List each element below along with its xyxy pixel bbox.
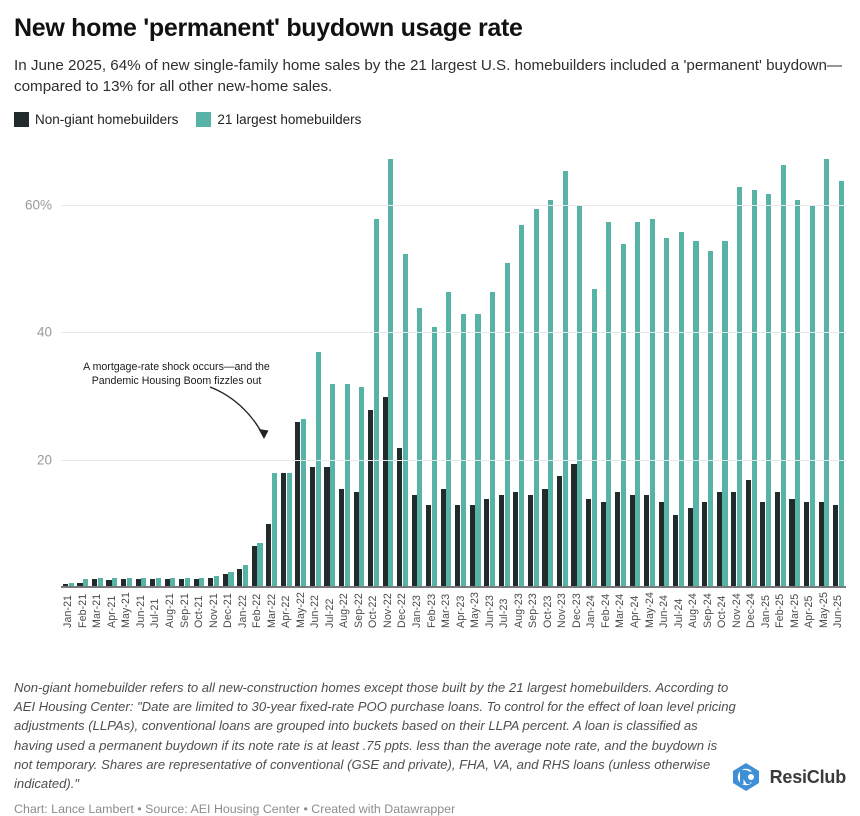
x-axis-label-text: Aug-22: [338, 592, 350, 628]
x-axis-label-text: Jun-22: [309, 592, 321, 628]
bar[interactable]: [499, 495, 504, 587]
bar[interactable]: [426, 505, 431, 588]
bar[interactable]: [804, 502, 809, 588]
bar[interactable]: [760, 502, 765, 588]
x-axis-label: Nov-22: [381, 592, 396, 628]
x-axis-label-text: Mar-24: [614, 592, 626, 628]
plot-region: 204060%: [61, 143, 846, 588]
bar-group[interactable]: [308, 143, 323, 588]
bar[interactable]: [737, 187, 742, 588]
bar[interactable]: [775, 492, 780, 587]
x-axis-label: Apr-22: [279, 592, 294, 628]
bar[interactable]: [819, 502, 824, 588]
x-axis-label: Aug-23: [511, 592, 526, 628]
bar-group[interactable]: [715, 143, 730, 588]
bar-group[interactable]: [61, 143, 76, 588]
x-axis-label-text: Oct-24: [716, 592, 728, 628]
x-axis-label-text: Nov-21: [208, 592, 220, 628]
bar-group[interactable]: [497, 143, 512, 588]
x-axis-label-text: Oct-21: [193, 592, 205, 628]
bar[interactable]: [354, 492, 359, 587]
x-axis-label-text: Mar-22: [266, 592, 278, 628]
legend-swatch-icon: [14, 112, 29, 127]
y-gridline: 60%: [61, 205, 846, 206]
bar[interactable]: [388, 159, 393, 588]
bar[interactable]: [513, 492, 518, 587]
bar[interactable]: [542, 489, 547, 588]
bar[interactable]: [650, 219, 655, 588]
credit-line: Chart: Lance Lambert • Source: AEI Housi…: [14, 802, 846, 816]
x-axis-label: Oct-22: [366, 592, 381, 628]
x-axis-label-text: Feb-23: [426, 592, 438, 628]
bar[interactable]: [266, 524, 271, 588]
x-axis-label: Jul-23: [497, 592, 512, 628]
x-axis-label-text: Oct-23: [542, 592, 554, 628]
legend-swatch-icon: [196, 112, 211, 127]
bar[interactable]: [606, 222, 611, 588]
bar-group[interactable]: [555, 143, 570, 588]
x-axis-label: Aug-22: [337, 592, 352, 628]
bar-group[interactable]: [366, 143, 381, 588]
x-axis-label-text: Sep-21: [179, 592, 191, 628]
bar[interactable]: [455, 505, 460, 588]
x-axis-label: Oct-23: [541, 592, 556, 628]
x-axis-label-text: Sep-24: [702, 592, 714, 628]
bar[interactable]: [702, 502, 707, 588]
x-axis-label: May-21: [119, 592, 134, 628]
bar-group[interactable]: [729, 143, 744, 588]
bar[interactable]: [359, 387, 364, 587]
bar-group[interactable]: [831, 143, 846, 588]
resiclub-mark-icon: [729, 762, 763, 792]
x-axis-label: Jan-22: [235, 592, 250, 628]
x-axis-label-text: May-21: [120, 592, 132, 628]
bar[interactable]: [446, 292, 451, 588]
bar-group[interactable]: [468, 143, 483, 588]
bar[interactable]: [679, 232, 684, 588]
bar[interactable]: [383, 397, 388, 588]
x-axis-label-text: Nov-23: [556, 592, 568, 628]
x-axis-label: May-24: [642, 592, 657, 628]
bar-group[interactable]: [482, 143, 497, 588]
x-axis-label: Dec-24: [744, 592, 759, 628]
bar-group[interactable]: [177, 143, 192, 588]
x-axis-label: Apr-24: [628, 592, 643, 628]
bar[interactable]: [397, 448, 402, 588]
bar-group[interactable]: [686, 143, 701, 588]
bar-group[interactable]: [192, 143, 207, 588]
bar[interactable]: [752, 190, 757, 587]
bar[interactable]: [243, 565, 248, 587]
x-axis-label: May-22: [294, 592, 309, 628]
x-axis-label-text: Jul-24: [673, 592, 685, 628]
bar[interactable]: [621, 244, 626, 587]
bar[interactable]: [490, 292, 495, 588]
bar-group[interactable]: [439, 143, 454, 588]
bar[interactable]: [592, 289, 597, 588]
bar-group[interactable]: [628, 143, 643, 588]
bar-group[interactable]: [206, 143, 221, 588]
bar[interactable]: [766, 194, 771, 588]
x-axis-label: Jan-21: [61, 592, 76, 628]
x-axis-label: Mar-25: [788, 592, 803, 628]
bar-group[interactable]: [657, 143, 672, 588]
bar[interactable]: [839, 181, 844, 588]
x-axis-label: Mar-24: [613, 592, 628, 628]
bar-group[interactable]: [744, 143, 759, 588]
bar-group[interactable]: [323, 143, 338, 588]
bar[interactable]: [475, 314, 480, 587]
bar-group[interactable]: [119, 143, 134, 588]
bar[interactable]: [659, 502, 664, 588]
brand-logo: ResiClub: [729, 762, 846, 792]
bar[interactable]: [586, 499, 591, 588]
bar[interactable]: [330, 384, 335, 587]
x-axis-label-text: Apr-24: [629, 592, 641, 628]
x-axis-label-text: Jan-21: [62, 592, 74, 628]
x-axis-label: Nov-23: [555, 592, 570, 628]
x-axis-label-text: Apr-25: [803, 592, 815, 628]
legend-item[interactable]: 21 largest homebuilders: [196, 112, 361, 127]
bar[interactable]: [664, 238, 669, 588]
bar-group[interactable]: [570, 143, 585, 588]
bar-group[interactable]: [642, 143, 657, 588]
bar[interactable]: [577, 206, 582, 587]
x-axis-label-text: May-23: [469, 592, 481, 628]
x-axis-label: Jun-21: [134, 592, 149, 628]
x-axis-label: Jun-23: [482, 592, 497, 628]
x-axis-label: Apr-21: [105, 592, 120, 628]
bar-group[interactable]: [700, 143, 715, 588]
x-axis-label: Jan-25: [759, 592, 774, 628]
bar[interactable]: [534, 209, 539, 587]
bar[interactable]: [287, 473, 292, 587]
x-axis-label-text: Jul-23: [498, 592, 510, 628]
x-axis-label-text: Jun-24: [658, 592, 670, 628]
bar[interactable]: [708, 251, 713, 588]
bar[interactable]: [484, 499, 489, 588]
bar[interactable]: [722, 241, 727, 587]
bar-group[interactable]: [424, 143, 439, 588]
chart-area: 204060% Jan-21Feb-21Mar-21Apr-21May-21Ju…: [14, 143, 846, 651]
x-axis-label-text: Jul-22: [324, 592, 336, 628]
x-axis-label: Aug-21: [163, 592, 178, 628]
x-axis-label: Sep-21: [177, 592, 192, 628]
x-axis-label-text: Feb-24: [600, 592, 612, 628]
x-axis-label-text: May-22: [295, 592, 307, 628]
x-axis-label-text: Nov-24: [731, 592, 743, 628]
x-axis-label: Sep-24: [700, 592, 715, 628]
bar[interactable]: [824, 159, 829, 588]
x-axis-label-text: May-25: [818, 592, 830, 628]
legend-item[interactable]: Non-giant homebuilders: [14, 112, 178, 127]
bar[interactable]: [731, 492, 736, 587]
bar-group[interactable]: [134, 143, 149, 588]
bar-group[interactable]: [148, 143, 163, 588]
x-axis-label: Nov-21: [206, 592, 221, 628]
x-axis-label: Jun-24: [657, 592, 672, 628]
x-axis-label: Mar-22: [264, 592, 279, 628]
bar-group[interactable]: [511, 143, 526, 588]
x-axis-label: Feb-24: [599, 592, 614, 628]
bar[interactable]: [417, 308, 422, 588]
legend-item-label: Non-giant homebuilders: [35, 112, 178, 127]
bar[interactable]: [272, 473, 277, 587]
page-title: New home 'permanent' buydown usage rate: [14, 14, 846, 44]
bar[interactable]: [470, 505, 475, 588]
x-axis-label-text: Dec-22: [396, 592, 408, 628]
x-axis-label-text: Dec-21: [222, 592, 234, 628]
bar-group[interactable]: [671, 143, 686, 588]
bar-group[interactable]: [453, 143, 468, 588]
bar[interactable]: [635, 222, 640, 588]
bar-group[interactable]: [279, 143, 294, 588]
bar[interactable]: [237, 569, 242, 588]
x-axis-label-text: Mar-21: [91, 592, 103, 628]
x-axis-label-text: May-24: [644, 592, 656, 628]
x-axis-label-text: Apr-21: [106, 592, 118, 628]
bar-group[interactable]: [105, 143, 120, 588]
x-axis-label-text: Sep-23: [527, 592, 539, 628]
x-axis-label: Oct-21: [192, 592, 207, 628]
x-axis-label: Mar-21: [90, 592, 105, 628]
x-axis-label: Mar-23: [439, 592, 454, 628]
x-axis-label-text: Apr-22: [280, 592, 292, 628]
bar[interactable]: [505, 263, 510, 587]
bar[interactable]: [528, 495, 533, 587]
bar[interactable]: [324, 467, 329, 588]
bar-group[interactable]: [381, 143, 396, 588]
x-axis-label-text: Jun-23: [484, 592, 496, 628]
bar[interactable]: [563, 171, 568, 587]
bar-group[interactable]: [395, 143, 410, 588]
bar[interactable]: [571, 464, 576, 588]
bar-group[interactable]: [541, 143, 556, 588]
x-axis-label: Jul-21: [148, 592, 163, 628]
x-axis-label-text: Feb-25: [774, 592, 786, 628]
brand-name: ResiClub: [770, 767, 846, 788]
x-axis-label-text: Jan-24: [585, 592, 597, 628]
x-axis-label: Jul-24: [671, 592, 686, 628]
bar[interactable]: [615, 492, 620, 587]
bar[interactable]: [717, 492, 722, 587]
x-axis-label-text: Feb-21: [77, 592, 89, 628]
bar[interactable]: [345, 384, 350, 587]
bar[interactable]: [630, 495, 635, 587]
bar[interactable]: [252, 546, 257, 587]
bar[interactable]: [746, 480, 751, 588]
x-axis-label-text: Jan-22: [237, 592, 249, 628]
x-axis-label: Apr-23: [453, 592, 468, 628]
bar-group[interactable]: [788, 143, 803, 588]
x-axis-label: May-23: [468, 592, 483, 628]
bar[interactable]: [461, 314, 466, 587]
chart-page: New home 'permanent' buydown usage rate …: [0, 14, 860, 812]
bar[interactable]: [301, 419, 306, 587]
bar-group[interactable]: [235, 143, 250, 588]
bar-group[interactable]: [76, 143, 91, 588]
x-axis-label: Jun-25: [831, 592, 846, 628]
y-axis-tick-label: 40: [37, 325, 52, 340]
x-axis-label: Oct-24: [715, 592, 730, 628]
bar[interactable]: [281, 473, 286, 587]
y-axis-tick-label: 20: [37, 452, 52, 467]
bar-group[interactable]: [410, 143, 425, 588]
x-axis-label-text: Dec-23: [571, 592, 583, 628]
bar-series-container: [61, 143, 846, 588]
chart-footer: Non-giant homebuilder refers to all new-…: [14, 678, 846, 816]
bar-group[interactable]: [526, 143, 541, 588]
x-axis-label: Dec-22: [395, 592, 410, 628]
x-axis-baseline: [61, 586, 846, 587]
legend-item-label: 21 largest homebuilders: [217, 112, 361, 127]
bar-group[interactable]: [264, 143, 279, 588]
bar[interactable]: [441, 489, 446, 588]
x-axis-label-text: Dec-24: [745, 592, 757, 628]
y-gridline: 40: [61, 332, 846, 333]
bar[interactable]: [601, 502, 606, 588]
x-axis-label-text: Aug-23: [513, 592, 525, 628]
x-axis-label: Apr-25: [802, 592, 817, 628]
x-axis-label: Feb-23: [424, 592, 439, 628]
bar[interactable]: [310, 467, 315, 588]
x-axis-label-text: Oct-22: [367, 592, 379, 628]
x-axis-label: Sep-22: [352, 592, 367, 628]
bar[interactable]: [789, 499, 794, 588]
bar-group[interactable]: [294, 143, 309, 588]
x-axis-label-text: Feb-22: [251, 592, 263, 628]
x-axis-label: Feb-22: [250, 592, 265, 628]
bar[interactable]: [673, 515, 678, 588]
bar-group[interactable]: [613, 143, 628, 588]
x-axis-label-text: Aug-24: [687, 592, 699, 628]
bar[interactable]: [374, 219, 379, 588]
x-axis-label: Jun-22: [308, 592, 323, 628]
page-subtitle: In June 2025, 64% of new single-family h…: [14, 55, 844, 98]
bar[interactable]: [316, 352, 321, 587]
bar[interactable]: [257, 543, 262, 588]
footnote-text: Non-giant homebuilder refers to all new-…: [14, 678, 736, 793]
bar[interactable]: [833, 505, 838, 588]
bar-group[interactable]: [584, 143, 599, 588]
x-axis-labels: Jan-21Feb-21Mar-21Apr-21May-21Jun-21Jul-…: [61, 592, 846, 628]
x-axis-label: May-25: [817, 592, 832, 628]
x-axis-label: Jul-22: [323, 592, 338, 628]
bar-group[interactable]: [352, 143, 367, 588]
x-axis-label-text: Apr-23: [455, 592, 467, 628]
bar-group[interactable]: [802, 143, 817, 588]
bar[interactable]: [339, 489, 344, 588]
bar[interactable]: [557, 476, 562, 587]
bar[interactable]: [548, 200, 553, 588]
bar[interactable]: [432, 327, 437, 588]
x-axis-label-text: Aug-21: [164, 592, 176, 628]
bar[interactable]: [781, 165, 786, 588]
bar[interactable]: [295, 422, 300, 587]
bar[interactable]: [795, 200, 800, 588]
x-axis-label: Feb-25: [773, 592, 788, 628]
bar[interactable]: [412, 495, 417, 587]
x-axis-label-text: Sep-22: [353, 592, 365, 628]
x-axis-label-text: Mar-23: [440, 592, 452, 628]
x-axis-label: Nov-24: [729, 592, 744, 628]
bar-group[interactable]: [90, 143, 105, 588]
x-axis-label: Jan-23: [410, 592, 425, 628]
x-axis-label: Jan-24: [584, 592, 599, 628]
x-axis-label-text: Mar-25: [789, 592, 801, 628]
chart-legend: Non-giant homebuilders21 largest homebui…: [14, 112, 846, 127]
x-axis-label: Dec-21: [221, 592, 236, 628]
bar[interactable]: [644, 495, 649, 587]
x-axis-label: Dec-23: [570, 592, 585, 628]
x-axis-label-text: Jan-25: [760, 592, 772, 628]
bar-group[interactable]: [163, 143, 178, 588]
bar-group[interactable]: [221, 143, 236, 588]
bar-group[interactable]: [250, 143, 265, 588]
bar-group[interactable]: [773, 143, 788, 588]
bar[interactable]: [810, 206, 815, 587]
bar[interactable]: [688, 508, 693, 587]
x-axis-label: Feb-21: [76, 592, 91, 628]
bar[interactable]: [403, 254, 408, 588]
bar-group[interactable]: [817, 143, 832, 588]
x-axis-label-text: Jul-21: [149, 592, 161, 628]
bar-group[interactable]: [337, 143, 352, 588]
x-axis-label: Aug-24: [686, 592, 701, 628]
x-axis-label-text: Jun-25: [832, 592, 844, 628]
bar[interactable]: [368, 410, 373, 588]
x-axis-label: Sep-23: [526, 592, 541, 628]
x-axis-label-text: Nov-22: [382, 592, 394, 628]
bar-group[interactable]: [759, 143, 774, 588]
bar[interactable]: [693, 241, 698, 587]
x-axis-label-text: Jan-23: [411, 592, 423, 628]
y-gridline: 20: [61, 460, 846, 461]
y-axis-tick-label: 60%: [25, 198, 52, 213]
bar[interactable]: [519, 225, 524, 587]
x-axis-label-text: Jun-21: [135, 592, 147, 628]
bar-group[interactable]: [599, 143, 614, 588]
